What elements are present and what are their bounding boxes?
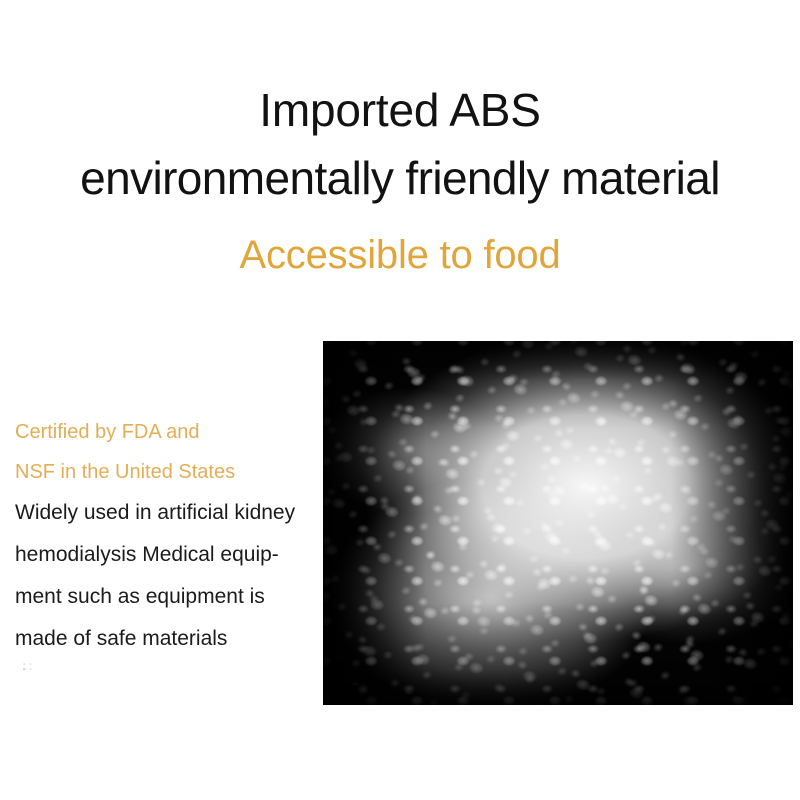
description-line-1: Widely used in artificial kidney bbox=[15, 492, 335, 534]
product-feature-poster: Imported ABS environmentally friendly ma… bbox=[0, 0, 800, 800]
headline-line-2: environmentally friendly material bbox=[0, 154, 800, 204]
smudge-artifact bbox=[22, 662, 34, 672]
subheadline: Accessible to food bbox=[0, 233, 800, 277]
certification-line-2: NSF in the United States bbox=[15, 452, 335, 492]
description-line-4: made of safe materials bbox=[15, 618, 335, 660]
headline-line-1: Imported ABS bbox=[0, 86, 800, 136]
description-line-2: hemodialysis Medical equip- bbox=[15, 534, 335, 576]
certification-line-1: Certified by FDA and bbox=[15, 412, 335, 452]
left-copy-block: Certified by FDA and NSF in the United S… bbox=[15, 412, 335, 660]
description-line-3: ment such as equipment is bbox=[15, 576, 335, 618]
product-photo bbox=[323, 341, 793, 705]
photo-vignette bbox=[323, 341, 793, 705]
